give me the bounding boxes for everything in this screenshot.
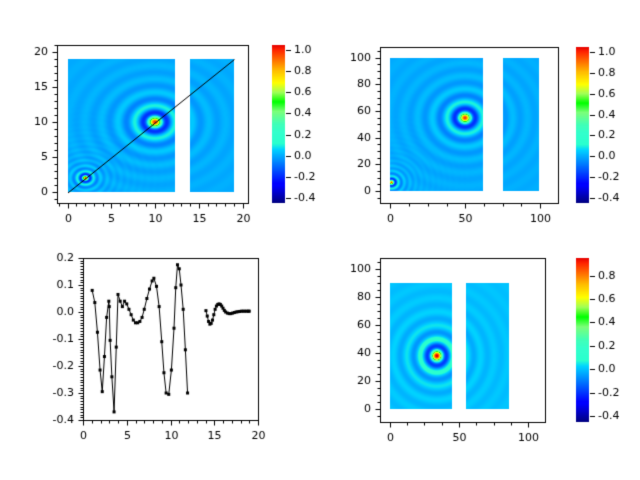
plot-area-plot-1[interactable] [320,0,640,240]
plot-area-top-left[interactable] [0,0,320,240]
panel-plot-1[interactable]: plot 1 [320,0,640,240]
plot-area-plot-3[interactable] [320,240,640,480]
panel-plot-2[interactable]: plot 2 [0,240,320,480]
plot-area-plot-2[interactable] [0,240,320,480]
figure-canvas: plot 1 plot 2 plot 3 [0,0,640,480]
panel-top-left[interactable] [0,0,320,240]
panel-plot-3[interactable]: plot 3 [320,240,640,480]
